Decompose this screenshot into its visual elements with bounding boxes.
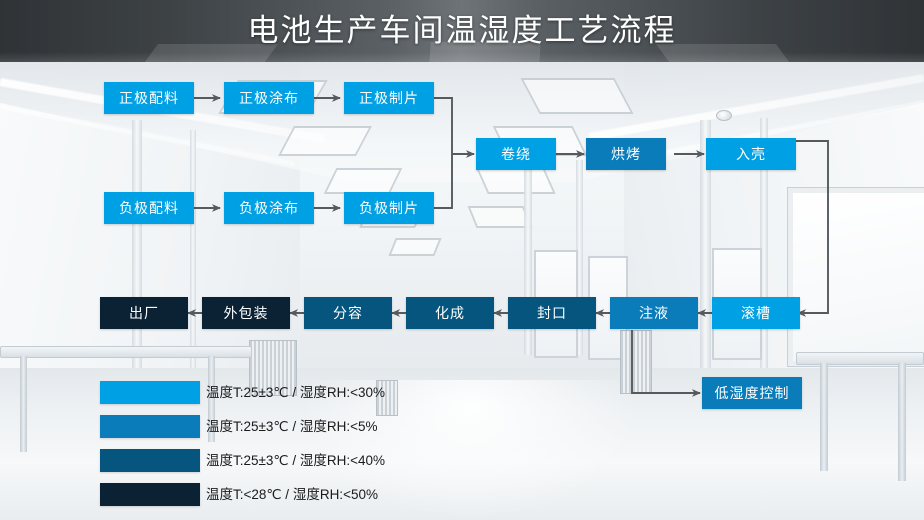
- smoke-detector-icon: [716, 110, 732, 121]
- flow-node-winding[interactable]: 卷绕: [476, 138, 556, 170]
- node-label: 正极配料: [119, 88, 179, 108]
- node-label: 滚槽: [741, 303, 771, 323]
- flow-node-grooving[interactable]: 滚槽: [712, 297, 800, 329]
- node-label: 出厂: [129, 303, 159, 323]
- legend-row: 温度T:25±3℃ / 湿度RH:<40%: [100, 449, 440, 481]
- flow-node-low-humidity-control[interactable]: 低湿度控制: [702, 377, 802, 409]
- flow-node-anode-batching[interactable]: 负极配料: [104, 192, 194, 224]
- flow-node-shipment[interactable]: 出厂: [100, 297, 188, 329]
- flow-node-cathode-batching[interactable]: 正极配料: [104, 82, 194, 114]
- node-label: 注液: [639, 303, 669, 323]
- legend-row: 温度T:<28℃ / 湿度RH:<50%: [100, 483, 440, 515]
- node-label: 分容: [333, 303, 363, 323]
- legend-label: 温度T:25±3℃ / 湿度RH:<40%: [206, 449, 385, 472]
- node-label: 烘烤: [611, 144, 641, 164]
- title-bar: 电池生产车间温湿度工艺流程: [0, 0, 924, 62]
- flow-node-anode-sheeting[interactable]: 负极制片: [344, 192, 434, 224]
- flow-node-cathode-sheeting[interactable]: 正极制片: [344, 82, 434, 114]
- legend-row: 温度T:25±3℃ / 湿度RH:<30%: [100, 381, 440, 413]
- node-label: 正极制片: [359, 88, 419, 108]
- node-label: 化成: [435, 303, 465, 323]
- page-title: 电池生产车间温湿度工艺流程: [0, 0, 924, 62]
- flow-node-baking[interactable]: 烘烤: [586, 138, 666, 170]
- legend-swatch-dark-blue: [100, 449, 200, 472]
- slide-canvas: 电池生产车间温湿度工艺流程: [0, 0, 924, 520]
- node-label: 负极涂布: [239, 198, 299, 218]
- node-label: 外包装: [224, 303, 269, 323]
- node-label: 负极配料: [119, 198, 179, 218]
- legend-row: 温度T:25±3℃ / 湿度RH:<5%: [100, 415, 440, 447]
- flow-node-cathode-coating[interactable]: 正极涂布: [224, 82, 314, 114]
- node-label: 封口: [537, 303, 567, 323]
- node-label: 负极制片: [359, 198, 419, 218]
- legend: 温度T:25±3℃ / 湿度RH:<30% 温度T:25±3℃ / 湿度RH:<…: [100, 381, 440, 517]
- legend-swatch-mid-blue: [100, 415, 200, 438]
- node-label: 低湿度控制: [715, 383, 790, 403]
- node-label: 入壳: [736, 144, 766, 164]
- legend-label: 温度T:<28℃ / 湿度RH:<50%: [206, 483, 378, 506]
- whiteboard: [788, 188, 924, 366]
- flow-node-electrolyte-filling[interactable]: 注液: [610, 297, 698, 329]
- node-label: 卷绕: [501, 144, 531, 164]
- flow-node-casing[interactable]: 入壳: [706, 138, 796, 170]
- flow-node-anode-coating[interactable]: 负极涂布: [224, 192, 314, 224]
- flow-node-outer-packaging[interactable]: 外包装: [202, 297, 290, 329]
- legend-label: 温度T:25±3℃ / 湿度RH:<5%: [206, 415, 378, 438]
- node-label: 正极涂布: [239, 88, 299, 108]
- legend-swatch-navy: [100, 483, 200, 506]
- legend-swatch-bright-blue: [100, 381, 200, 404]
- legend-label: 温度T:25±3℃ / 湿度RH:<30%: [206, 381, 385, 404]
- flow-node-grading[interactable]: 分容: [304, 297, 392, 329]
- flow-node-sealing[interactable]: 封口: [508, 297, 596, 329]
- flow-node-formation[interactable]: 化成: [406, 297, 494, 329]
